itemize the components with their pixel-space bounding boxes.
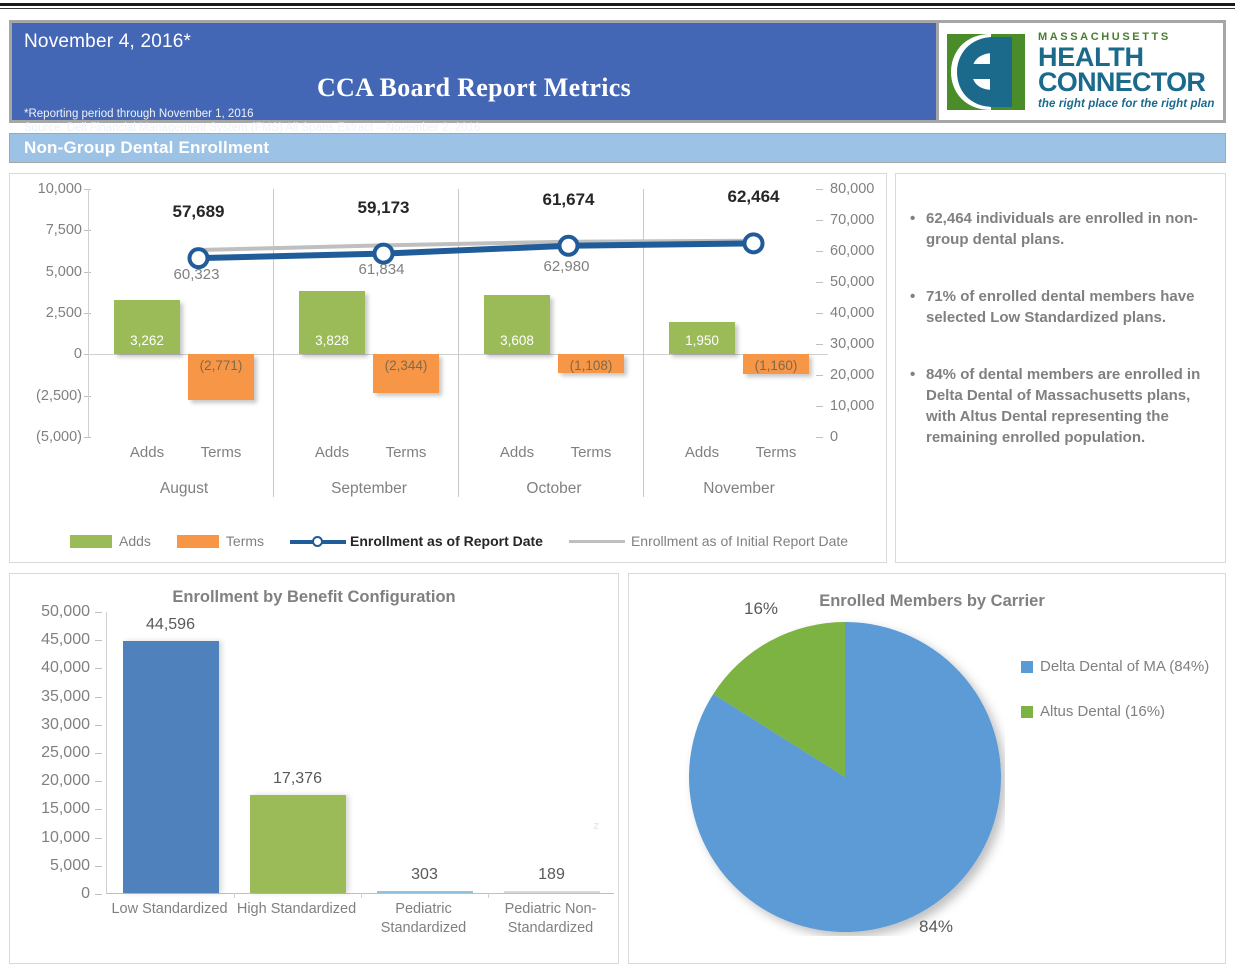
secondary-y-axis-tick-label: 20,000 xyxy=(830,367,874,383)
chart-edge-artifact: z xyxy=(594,820,600,832)
benefit-config-bar xyxy=(123,641,219,893)
initial-report-date-value-label: 60,323 xyxy=(174,266,220,283)
sub-category-label-terms: Terms xyxy=(571,444,612,461)
y-axis-tick-label: 0 xyxy=(74,346,82,362)
legend-item-terms: Terms xyxy=(177,533,264,549)
report-date-value-label: 59,173 xyxy=(358,198,410,218)
bar-chart-y-tick-label: 5,000 xyxy=(50,857,90,875)
bar-chart-y-tick-label: 50,000 xyxy=(41,603,90,621)
secondary-y-axis-tick-label: 10,000 xyxy=(830,398,874,414)
y-axis-tick xyxy=(84,437,91,438)
combo-plot-area: 3,262(2,771)3,828(2,344)3,608(1,108)1,95… xyxy=(88,189,828,437)
bar-chart-y-tick xyxy=(95,725,102,726)
benefit-config-category-label: Pediatric Standardized xyxy=(355,900,492,938)
bar-chart-y-tick xyxy=(95,612,102,613)
benefit-config-category-label: Low Standardized xyxy=(101,900,238,919)
y-axis-tick-label: (2,500) xyxy=(36,388,82,404)
sub-category-label-adds: Adds xyxy=(685,444,719,461)
bar-chart-title: Enrollment by Benefit Configuration xyxy=(10,588,618,607)
report-date-value-label: 61,674 xyxy=(543,190,595,210)
benefit-config-bar-value: 44,596 xyxy=(146,616,195,634)
month-label: September xyxy=(331,480,407,498)
bullet-icon: • xyxy=(910,286,926,328)
bar-chart-y-tick-label: 10,000 xyxy=(41,829,90,847)
combo-chart-panel: 10,0007,5005,0002,5000(2,500)(5,000) 80,… xyxy=(9,173,887,563)
enrollment-line-series xyxy=(88,189,828,437)
pie-legend-swatch-delta xyxy=(1021,661,1033,673)
bullet-icon: • xyxy=(910,364,926,448)
page-title: CCA Board Report Metrics xyxy=(12,73,936,103)
key-finding-text: 71% of enrolled dental members have sele… xyxy=(926,286,1207,328)
key-finding-item: •71% of enrolled dental members have sel… xyxy=(910,286,1207,328)
top-rule-secondary xyxy=(0,8,1235,9)
bar-chart-y-tick-label: 25,000 xyxy=(41,744,90,762)
bar-chart-y-tick xyxy=(95,753,102,754)
month-label: August xyxy=(160,480,208,498)
secondary-y-axis-tick-label: 80,000 xyxy=(830,181,874,197)
secondary-y-axis-tick-label: 70,000 xyxy=(830,212,874,228)
bar-chart-y-tick-label: 40,000 xyxy=(41,659,90,677)
pie-legend-label-delta: Delta Dental of MA (84%) xyxy=(1040,658,1209,675)
bar-chart-y-tick-label: 30,000 xyxy=(41,716,90,734)
section-banner: Non-Group Dental Enrollment xyxy=(9,133,1226,163)
key-findings-list: •62,464 individuals are enrolled in non-… xyxy=(896,174,1225,448)
key-finding-text: 84% of dental members are enrolled in De… xyxy=(926,364,1207,448)
enrolled-members-by-carrier-chart: Enrolled Members by Carrier 16% 84% xyxy=(629,574,1225,963)
bar-chart-category-divider xyxy=(488,893,489,898)
carrier-pie-panel: Enrolled Members by Carrier 16% 84% xyxy=(628,573,1226,964)
benefit-config-bar xyxy=(250,795,346,893)
legend-line-gray-icon xyxy=(569,540,625,543)
secondary-y-axis-tick-label: 50,000 xyxy=(830,274,874,290)
logo-wordmark: MASSACHUSETTS HEALTH CONNECTOR the right… xyxy=(1038,32,1215,111)
bar-chart-y-tick xyxy=(95,697,102,698)
bar-chart-category-divider xyxy=(234,893,235,898)
y-axis-tick-label: 5,000 xyxy=(46,264,82,280)
line-data-marker xyxy=(560,237,578,255)
secondary-y-axis-tick-label: 30,000 xyxy=(830,336,874,352)
sub-category-label-terms: Terms xyxy=(756,444,797,461)
bar-chart-y-tick xyxy=(95,668,102,669)
pie-label-delta: 84% xyxy=(919,917,953,937)
non-group-dental-enrollment-chart: 10,0007,5005,0002,5000(2,500)(5,000) 80,… xyxy=(10,174,886,562)
initial-report-date-value-label: 61,834 xyxy=(359,261,405,278)
bar-chart-y-tick-label: 35,000 xyxy=(41,688,90,706)
legend-line-marker-icon xyxy=(290,534,346,548)
report-date: November 4, 2016* xyxy=(24,31,191,53)
benefit-config-category-label: Pediatric Non-Standardized xyxy=(482,900,619,938)
pie-chart-title: Enrolled Members by Carrier xyxy=(629,592,1225,611)
report-header: November 4, 2016* CCA Board Report Metri… xyxy=(9,20,1226,123)
bar-chart-y-tick xyxy=(95,838,102,839)
bar-chart-y-axis: 50,00045,00040,00035,00030,00025,00020,0… xyxy=(10,612,102,894)
legend-item-adds: Adds xyxy=(70,533,151,549)
legend-label-adds: Adds xyxy=(119,533,151,549)
logo-tagline: the right place for the right plan xyxy=(1038,99,1215,111)
report-date-value-label: 57,689 xyxy=(173,202,225,222)
primary-y-axis: 10,0007,5005,0002,5000(2,500)(5,000) xyxy=(10,174,82,562)
y-axis-tick-label: 2,500 xyxy=(46,305,82,321)
legend-label-terms: Terms xyxy=(226,533,264,549)
logo-h-mark-icon xyxy=(945,30,1029,114)
bar-chart-y-tick xyxy=(95,809,102,810)
health-connector-logo: MASSACHUSETTS HEALTH CONNECTOR the right… xyxy=(936,23,1223,120)
bar-chart-y-tick xyxy=(95,894,102,895)
bar-chart-plot-area: 44,59617,376303189 xyxy=(106,612,614,894)
y-axis-tick-label: (5,000) xyxy=(36,429,82,445)
report-date-line xyxy=(199,243,754,258)
sub-category-label-terms: Terms xyxy=(201,444,242,461)
benefit-config-category-label: High Standardized xyxy=(228,900,365,919)
header-blue-bar: November 4, 2016* CCA Board Report Metri… xyxy=(12,23,936,120)
benefit-config-bar xyxy=(377,891,473,893)
sub-category-label-adds: Adds xyxy=(500,444,534,461)
secondary-y-axis-tick-label: 40,000 xyxy=(830,305,874,321)
bar-chart-y-tick-label: 0 xyxy=(81,885,90,903)
benefit-config-bar-value: 303 xyxy=(411,866,438,884)
bar-chart-category-divider xyxy=(361,893,362,898)
sub-category-label-adds: Adds xyxy=(315,444,349,461)
initial-report-date-value-label: 62,980 xyxy=(544,258,590,275)
pie-legend-label-altus: Altus Dental (16%) xyxy=(1040,703,1165,720)
bullet-icon: • xyxy=(910,208,926,250)
legend-item-enrollment-initial-report-date: Enrollment as of Initial Report Date xyxy=(569,533,848,549)
benefit-config-bar-value: 17,376 xyxy=(273,770,322,788)
key-finding-item: •84% of dental members are enrolled in D… xyxy=(910,364,1207,448)
bar-chart-y-tick-label: 15,000 xyxy=(41,800,90,818)
secondary-y-axis-tick-label: 60,000 xyxy=(830,243,874,259)
bar-chart-y-tick-label: 45,000 xyxy=(41,631,90,649)
pie-label-altus: 16% xyxy=(744,599,778,619)
month-label: November xyxy=(703,480,775,498)
reporting-period-note: *Reporting period through November 1, 20… xyxy=(24,107,480,121)
sub-category-label-adds: Adds xyxy=(130,444,164,461)
line-data-marker xyxy=(745,234,763,252)
report-page: November 4, 2016* CCA Board Report Metri… xyxy=(0,0,1235,973)
key-finding-item: •62,464 individuals are enrolled in non-… xyxy=(910,208,1207,250)
benefit-config-bar xyxy=(504,891,600,893)
legend-swatch-terms xyxy=(177,535,219,548)
bar-chart-y-tick xyxy=(95,866,102,867)
benefit-configuration-panel: Enrollment by Benefit Configuration 50,0… xyxy=(9,573,619,964)
bar-chart-y-tick-label: 20,000 xyxy=(41,772,90,790)
secondary-y-axis-tick-label: 0 xyxy=(830,429,838,445)
benefit-config-bar-value: 189 xyxy=(538,866,565,884)
bar-chart-y-tick xyxy=(95,640,102,641)
top-rule xyxy=(0,3,1235,6)
line-data-marker xyxy=(190,249,208,267)
enrollment-by-benefit-configuration-chart: Enrollment by Benefit Configuration 50,0… xyxy=(10,574,618,963)
secondary-y-axis-tick xyxy=(816,437,823,438)
pie-graphic xyxy=(685,618,1005,936)
key-finding-text: 62,464 individuals are enrolled in non-g… xyxy=(926,208,1207,250)
pie-legend-item-altus: Altus Dental (16%) xyxy=(1021,703,1209,720)
y-axis-tick-label: 10,000 xyxy=(38,181,82,197)
pie-legend-swatch-altus xyxy=(1021,706,1033,718)
legend-label-enrollment-initial-report-date: Enrollment as of Initial Report Date xyxy=(631,533,848,549)
legend-label-enrollment-report-date: Enrollment as of Report Date xyxy=(350,533,543,549)
pie-chart-legend: Delta Dental of MA (84%) Altus Dental (1… xyxy=(1021,658,1209,748)
logo-line-connector: CONNECTOR xyxy=(1038,69,1215,96)
report-date-value-label: 62,464 xyxy=(728,187,780,207)
key-findings-panel: •62,464 individuals are enrolled in non-… xyxy=(895,173,1226,563)
month-label: October xyxy=(526,480,581,498)
combo-chart-legend: Adds Terms Enrollment as of Report Date … xyxy=(70,528,880,554)
pie-legend-item-delta: Delta Dental of MA (84%) xyxy=(1021,658,1209,675)
legend-item-enrollment-report-date: Enrollment as of Report Date xyxy=(290,533,543,549)
sub-category-label-terms: Terms xyxy=(386,444,427,461)
y-axis-tick-label: 7,500 xyxy=(46,222,82,238)
line-data-marker xyxy=(375,245,393,263)
section-banner-label: Non-Group Dental Enrollment xyxy=(24,138,269,158)
legend-swatch-adds xyxy=(70,535,112,548)
header-source-notes: *Reporting period through November 1, 20… xyxy=(24,107,480,135)
bar-chart-y-tick xyxy=(95,781,102,782)
